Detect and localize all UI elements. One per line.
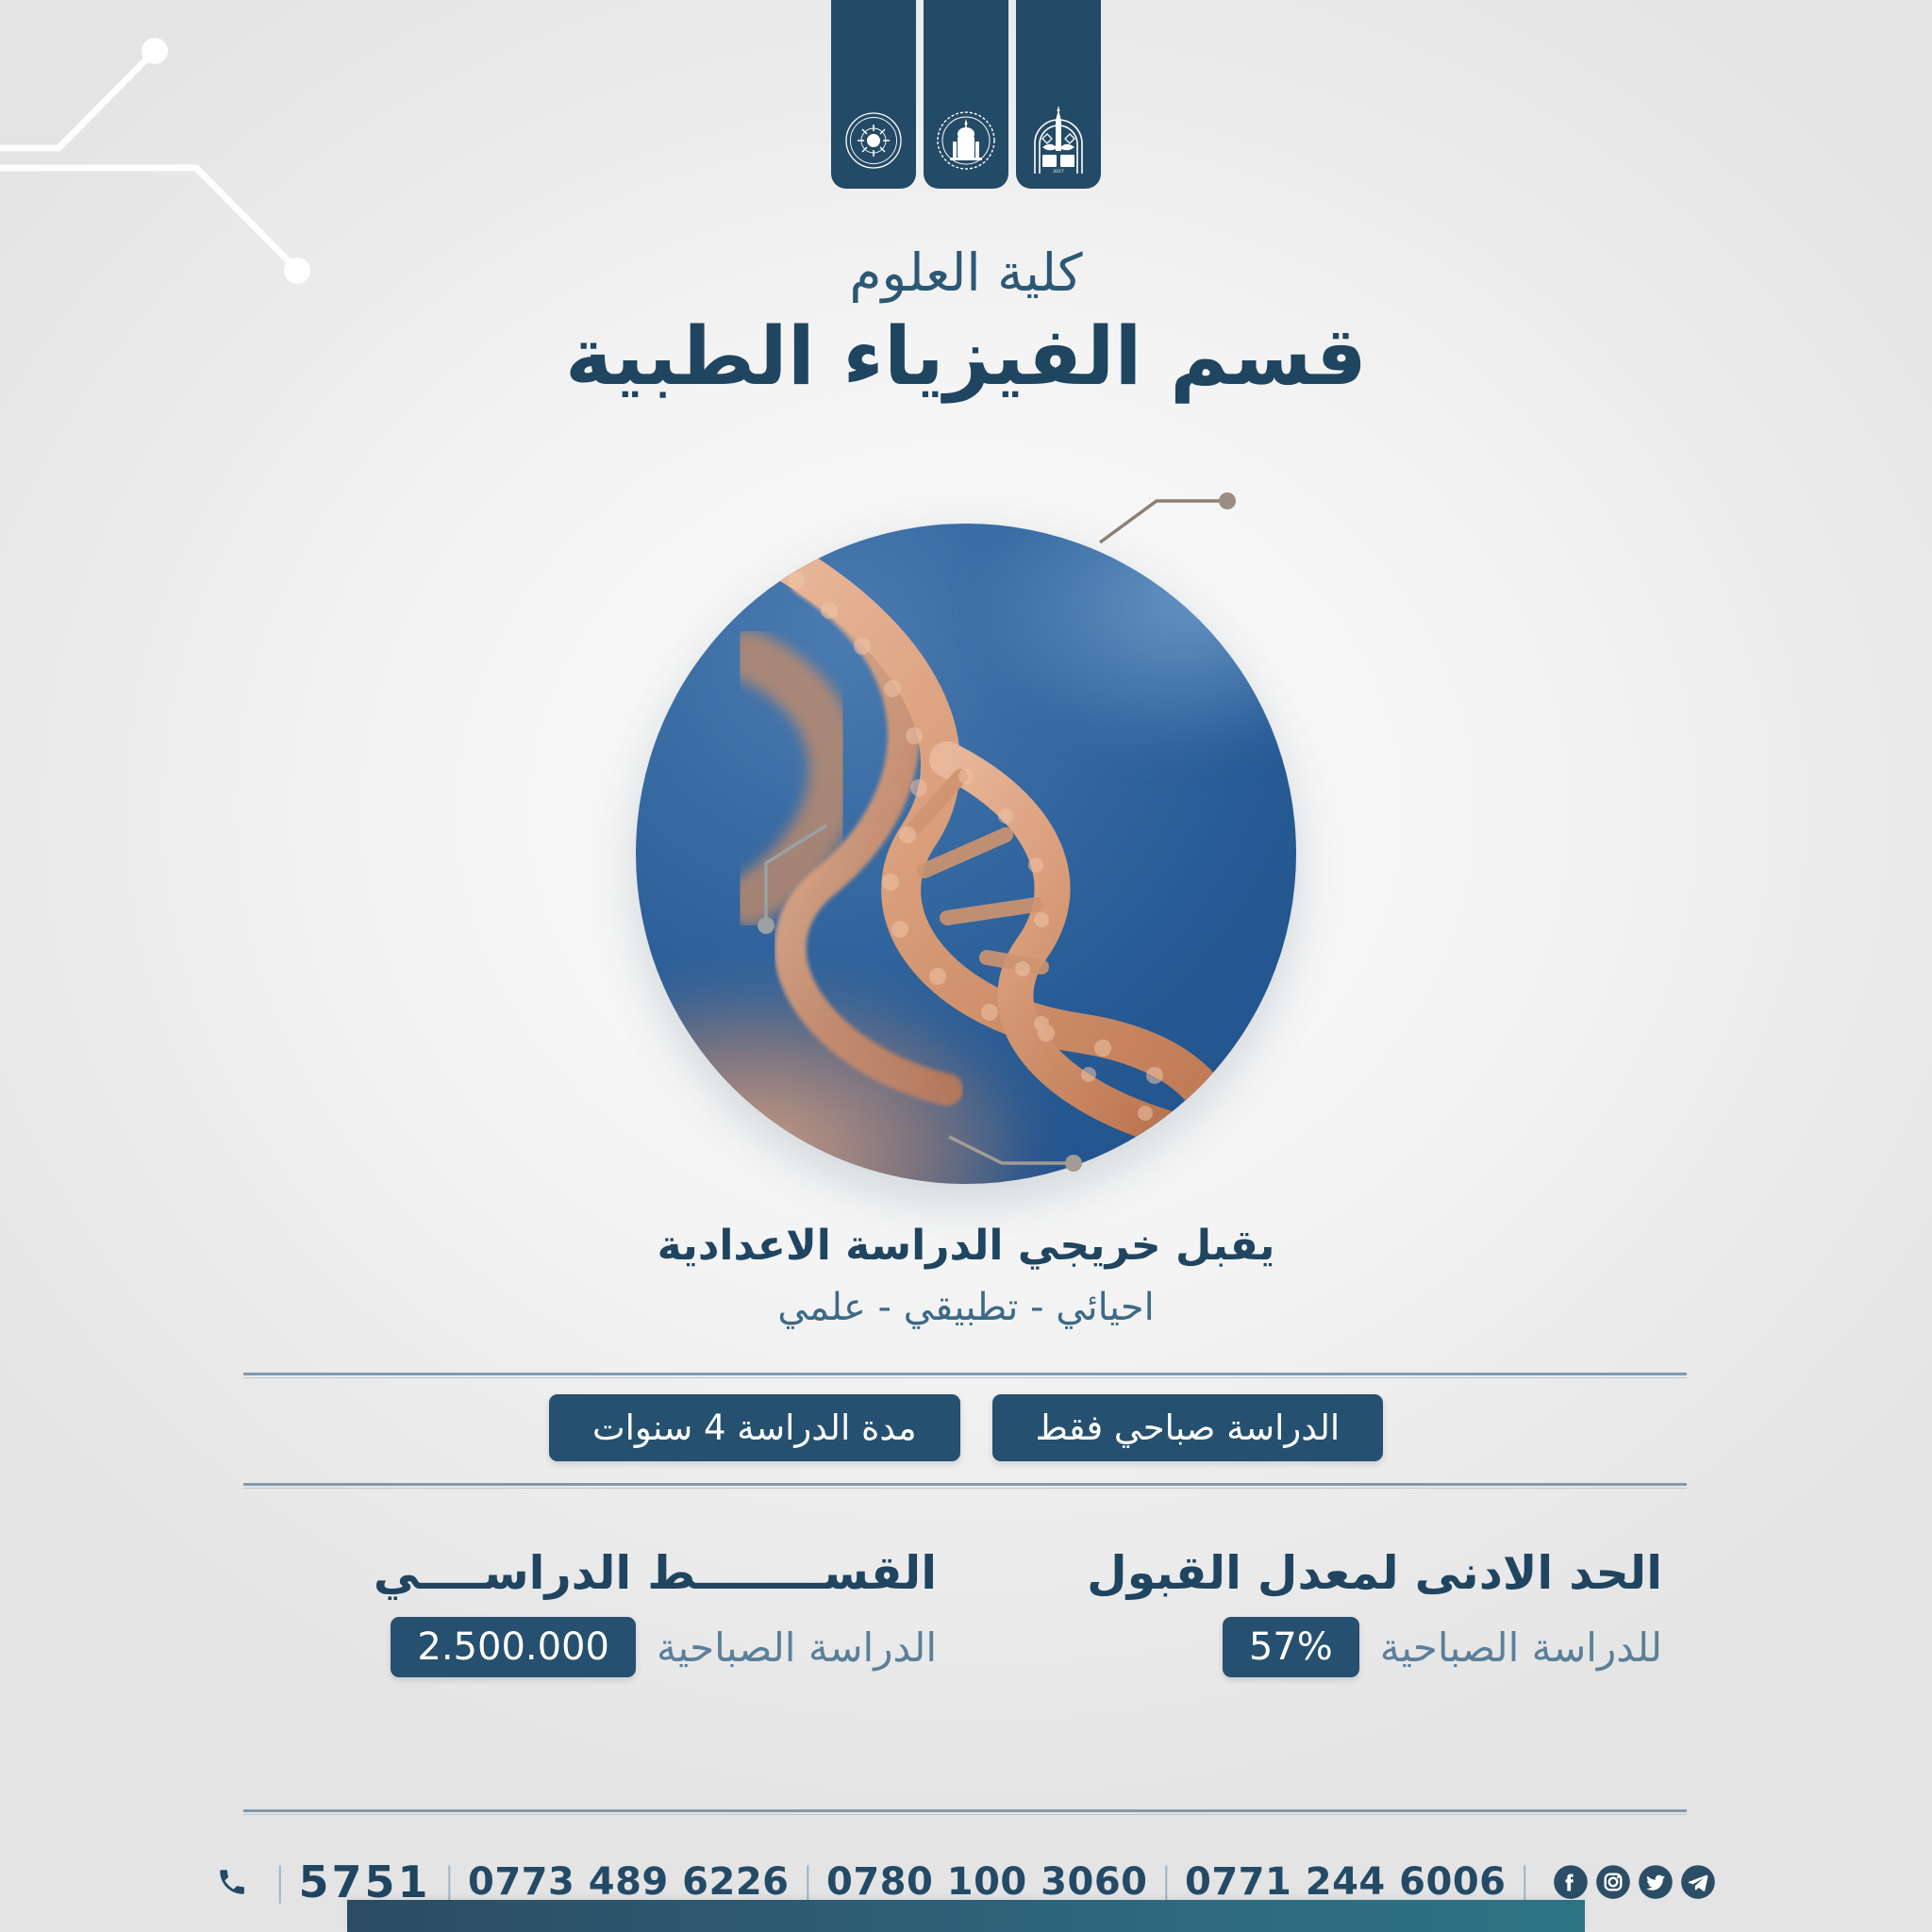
divider-top — [243, 1373, 1687, 1377]
contact-number-3[interactable]: 0771 244 6006 — [1185, 1860, 1507, 1904]
al-ataba-al-abbasiya-logo — [937, 106, 995, 175]
contact-separator: | — [1519, 1860, 1531, 1904]
accepts-block: يقبل خريجي الدراسة الاعدادية احيائي - تط… — [0, 1217, 1932, 1336]
admission-row: للدراسة الصباحية 57% — [965, 1617, 1662, 1677]
contact-separator: | — [1160, 1860, 1173, 1904]
tuition-value: 2.500.000 — [391, 1617, 636, 1677]
tuition-title: القســــــــط الدراســــي — [243, 1547, 937, 1600]
badges-row: الدراسة صباحي فقط مدة الدراسة 4 سنوات — [0, 1394, 1932, 1461]
admission-column: الحد الادنى لمعدل القبول للدراسة الصباحي… — [965, 1547, 1687, 1677]
contact-separator: | — [802, 1860, 814, 1904]
pin-left — [758, 917, 774, 934]
contact-number-1[interactable]: 0773 489 6226 — [468, 1860, 790, 1904]
accepts-line-1: يقبل خريجي الدراسة الاعدادية — [0, 1217, 1932, 1275]
logo-card-shrine — [924, 0, 1008, 189]
twitter-icon[interactable] — [1638, 1864, 1674, 1900]
logo-bar: 2017 — [831, 0, 1101, 189]
logo-card-university: 2017 — [1016, 0, 1101, 189]
page-title-block: كلية العلوم قسم الفيزياء الطبية — [0, 241, 1932, 408]
contact-separator: | — [443, 1860, 456, 1904]
admission-shift-label: للدراسة الصباحية — [1380, 1624, 1662, 1671]
pin-top-right — [1219, 492, 1236, 509]
tuition-shift-label: الدراسة الصباحية — [657, 1624, 937, 1671]
divider-middle — [243, 1483, 1687, 1488]
university-of-warith-al-anbiya-logo: 2017 — [1029, 106, 1088, 175]
phone-icon — [216, 1866, 248, 1898]
svg-text:2017: 2017 — [1053, 169, 1064, 175]
contact-number-2[interactable]: 0780 100 3060 — [826, 1860, 1148, 1904]
study-duration-badge[interactable]: مدة الدراسة 4 سنوات — [549, 1394, 960, 1461]
telegram-icon[interactable] — [1680, 1864, 1716, 1900]
admission-value: 57% — [1223, 1617, 1359, 1677]
social-links — [1553, 1864, 1716, 1900]
admission-title: الحد الادنى لمعدل القبول — [965, 1547, 1662, 1600]
tuition-row: الدراسة الصباحية 2.500.000 — [243, 1617, 937, 1677]
ministry-of-higher-education-logo — [844, 106, 903, 175]
hero-pin-markers — [523, 391, 1409, 1316]
divider-footer — [243, 1809, 1687, 1814]
pin-bottom — [1065, 1155, 1082, 1172]
bottom-accent-bar — [347, 1900, 1585, 1932]
study-shift-badge[interactable]: الدراسة صباحي فقط — [992, 1394, 1384, 1461]
college-name: كلية العلوم — [0, 241, 1932, 306]
logo-card-ministry — [831, 0, 916, 189]
accepts-line-2: احيائي - تطبيقي - علمي — [0, 1279, 1932, 1336]
info-columns: الحد الادنى لمعدل القبول للدراسة الصباحي… — [243, 1547, 1687, 1677]
contact-separator: | — [274, 1860, 286, 1904]
facebook-icon[interactable] — [1553, 1864, 1589, 1900]
tuition-column: القســــــــط الدراســــي الدراسة الصباح… — [243, 1547, 965, 1677]
instagram-icon[interactable] — [1595, 1864, 1631, 1900]
hero-image-block — [636, 524, 1296, 1184]
